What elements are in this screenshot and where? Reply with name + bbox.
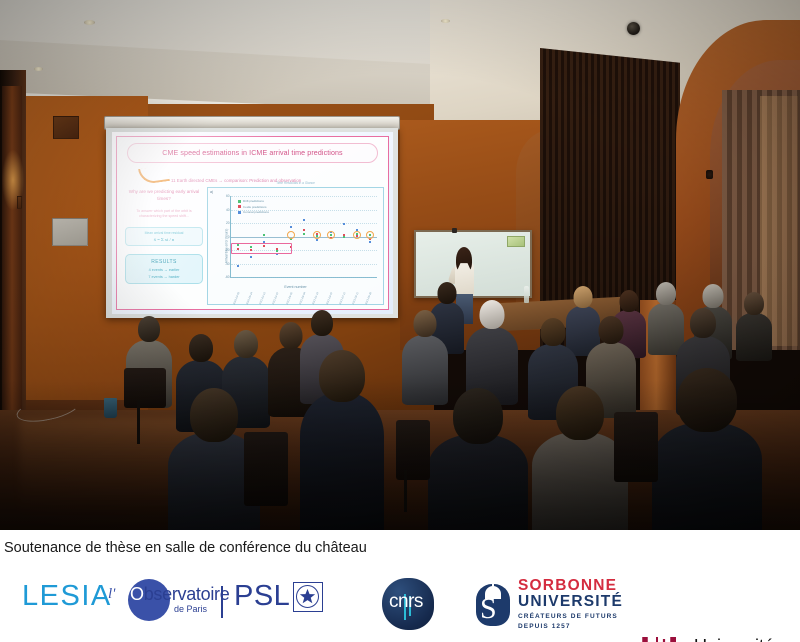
plot-legend-item: Coronal predictions (238, 210, 269, 216)
audience-head (656, 282, 676, 305)
wall-sconce-icon (706, 170, 713, 179)
slide-formula-box: Mean arrival time residual x̄ = Σ xi / n (125, 227, 203, 246)
audience-torso (300, 392, 384, 530)
audience-head (414, 310, 437, 337)
sorbonne-s-letter: S (480, 595, 497, 624)
conference-room-photo: CME speed estimations in ICME arrival ti… (0, 0, 800, 530)
plot-x-tick: 2011-02-15 (259, 292, 267, 305)
vertical-divider (221, 586, 223, 618)
chair (396, 420, 430, 480)
star-icon (299, 588, 316, 605)
plot-annotation-circle (287, 231, 295, 239)
audience-head (189, 334, 213, 362)
slide-question: Why are we predicting early arrival time… (125, 189, 203, 203)
audience-head (703, 284, 724, 308)
slide-formula-caption: Mean arrival time residual (128, 231, 200, 235)
plot-annotation-circle (353, 231, 361, 239)
psl-wordmark: PSL (234, 580, 290, 613)
plot-x-tick: 2010-04-03 (232, 292, 240, 305)
slide-results-line: 4 events → earlier (128, 268, 200, 272)
logo-psl[interactable]: PSL (234, 580, 323, 613)
sorbonne-wordmark: SORBONNE UNIVERSITÉ CRÉATEURS DE FUTURS … (518, 578, 623, 631)
sorbonne-line4: DEPUIS 1257 (518, 623, 623, 631)
plot-data-point (263, 234, 265, 236)
plot-annotation-circle (327, 231, 335, 239)
plot-annotation-rect (231, 243, 292, 254)
audience-head (541, 318, 566, 346)
chair (614, 412, 658, 482)
audience-head (319, 350, 365, 402)
audience-torso (652, 422, 762, 530)
plot-data-point (343, 234, 345, 236)
caption-text: Soutenance de thèse en salle de conféren… (0, 540, 367, 556)
plot-legend-label: Drift predictions (243, 199, 264, 203)
door-frame (2, 86, 22, 436)
observatoire-initial: O (130, 584, 144, 604)
recessed-light-icon (84, 20, 95, 25)
waste-bin (104, 398, 117, 418)
audience-head (556, 386, 604, 440)
presentation-slide: CME speed estimations in ICME arrival ti… (116, 136, 389, 310)
universite-line1: Université (694, 636, 774, 642)
slide-title-box: CME speed estimations in ICME arrival ti… (127, 143, 378, 163)
cnrs-mark: cnrs (382, 578, 434, 630)
plot-y-tick: -60 (225, 275, 230, 279)
plot-y-tick: 60 (226, 194, 230, 198)
chair (124, 368, 166, 408)
wall-socket (17, 196, 22, 209)
whiteboard-clip-icon (452, 228, 457, 233)
plot-x-tick: 2013-06-28 (365, 292, 373, 305)
chair-leg (404, 470, 407, 512)
ceiling-speaker-icon (627, 22, 640, 35)
plot-gridline (231, 196, 377, 197)
slide-results-line: 7 events → harder (128, 275, 200, 279)
audience-head (690, 308, 716, 338)
plot-annotation-circle (313, 231, 321, 239)
slide-paragraph: To answer which part of the orbit is cha… (125, 209, 203, 220)
slide-results-box: RESULTS 4 events → earlier 7 events → ha… (125, 254, 203, 284)
logo-sorbonne-universite[interactable]: S SORBONNE UNIVERSITÉ CRÉATEURS DE FUTUR… (472, 578, 800, 631)
audience-head (744, 292, 764, 315)
logo-universite-de-paris[interactable]: Université de Paris (640, 633, 800, 642)
plot-supertitle: Time Residuals in a Glance (208, 181, 383, 185)
plot-gridline (231, 223, 377, 224)
plot-legend-label: Coronal predictions (243, 210, 269, 214)
audience-head (138, 316, 160, 342)
audience-head (599, 316, 624, 344)
audience-head (311, 310, 333, 336)
plot-gridline (231, 277, 377, 278)
projector-screen: CME speed estimations in ICME arrival ti… (112, 132, 393, 314)
plot-x-axis-label: Event number (208, 285, 383, 289)
plot-x-tick: 2012-07-12 (339, 292, 347, 305)
logo-cnrs[interactable]: cnrs (382, 578, 434, 630)
plot-x-tick: 2010-05-24 (246, 292, 254, 305)
slide-scatter-plot: Time Residuals in a Glance a) Arrival ti… (207, 187, 384, 305)
plot-y-tick: -40 (225, 262, 230, 266)
logo-divider (212, 586, 232, 618)
wall-switch-panel (52, 218, 88, 246)
slide-left-column: Why are we predicting early arrival time… (125, 189, 203, 303)
plot-gridline (231, 264, 377, 265)
cnrs-wordmark: cnrs (389, 591, 423, 613)
page-root: CME speed estimations in ICME arrival ti… (0, 0, 800, 642)
u-monogram-icon (640, 633, 686, 642)
audience-member (652, 368, 762, 530)
slide-results-title: RESULTS (128, 259, 200, 265)
lesia-wordmark: LESIA (22, 580, 112, 613)
audience-head (480, 300, 505, 329)
plot-data-point (369, 241, 371, 243)
universite-de-paris-wordmark: Université de Paris (694, 636, 774, 642)
audience-head (234, 330, 258, 358)
observatoire-subtitle: de Paris (174, 604, 207, 614)
plot-x-tick: 2012-03-07 (325, 292, 333, 305)
plot-y-tick: 0 (228, 235, 230, 239)
plot-data-point (303, 229, 305, 231)
plot-x-tick: 2012-01-19 (312, 292, 320, 305)
sorbonne-line3: CRÉATEURS DE FUTURS (518, 613, 623, 621)
plot-data-point (316, 239, 318, 241)
psl-star-icon (293, 582, 323, 612)
plot-data-point (237, 265, 239, 267)
chair (244, 432, 288, 506)
plot-x-tick: 2011-08-04 (299, 292, 307, 305)
audience-member (300, 350, 384, 530)
chair-leg (137, 400, 140, 444)
audience-member (428, 388, 528, 530)
plot-x-tick: 2011-06-02 (285, 292, 293, 305)
plot-data-point (250, 256, 252, 258)
plot-y-tick: -20 (225, 248, 230, 252)
audience-head (453, 388, 503, 444)
plot-legend-label: In-situ predictions (243, 205, 267, 209)
recessed-light-icon (441, 19, 450, 23)
audience-torso (428, 434, 528, 530)
plot-data-point (343, 223, 345, 225)
plot-legend: Drift predictionsIn-situ predictionsCoro… (238, 199, 269, 216)
orange-arrow-icon (138, 165, 170, 185)
audience-torso (736, 313, 772, 361)
audience-head (190, 388, 238, 442)
logo-bar: LESIA l' Observatoire de Paris PSL (0, 566, 800, 642)
photo-caption: Soutenance de thèse en salle de conféren… (0, 530, 800, 566)
sorbonne-mark: S (472, 581, 514, 629)
universite-de-paris-mark (640, 633, 686, 642)
wall-vent-panel (53, 116, 79, 139)
plot-data-point (290, 226, 292, 228)
plot-data-point (303, 233, 305, 235)
slide-formula: x̄ = Σ xi / n (128, 237, 200, 242)
plot-panel-tag: a) (210, 190, 213, 194)
slide-title: CME speed estimations in ICME arrival ti… (162, 149, 342, 157)
audience-head (574, 286, 593, 308)
sorbonne-line1: SORBONNE (518, 578, 623, 594)
plot-annotation-circle (366, 231, 374, 239)
audience-head (438, 282, 457, 304)
plot-x-tick: 2013-04-11 (352, 292, 360, 305)
audience-head (620, 290, 639, 312)
audience-member (736, 292, 772, 358)
sorbonne-line2: UNIVERSITÉ (518, 594, 623, 610)
plot-y-tick: 20 (226, 221, 230, 225)
recessed-light-icon (34, 67, 43, 71)
whiteboard-poster (507, 236, 525, 247)
water-bottle (524, 286, 529, 303)
plot-y-tick: 40 (226, 208, 230, 212)
observatoire-prefix: l' (108, 586, 115, 603)
audience-head (677, 368, 737, 432)
plot-data-point (303, 219, 305, 221)
logo-lesia[interactable]: LESIA (22, 580, 112, 613)
plot-x-tick: 2011-03-07 (272, 292, 280, 305)
